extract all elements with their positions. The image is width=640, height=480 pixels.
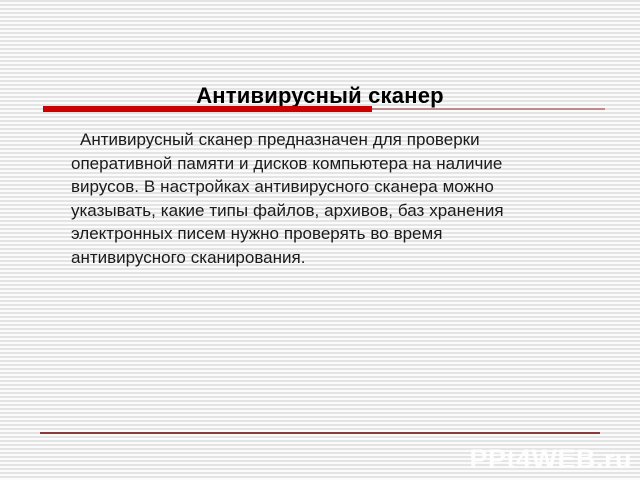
watermark-label: PPt4WEB.ru bbox=[469, 444, 632, 474]
accent-red-bar bbox=[43, 106, 372, 112]
slide-body-text: Антивирусный сканер предназначен для про… bbox=[71, 128, 549, 269]
presentation-slide: Антивирусный сканер Антивирусный сканер … bbox=[0, 0, 640, 480]
footer-divider bbox=[40, 432, 600, 434]
title-accent-rules bbox=[0, 105, 640, 115]
